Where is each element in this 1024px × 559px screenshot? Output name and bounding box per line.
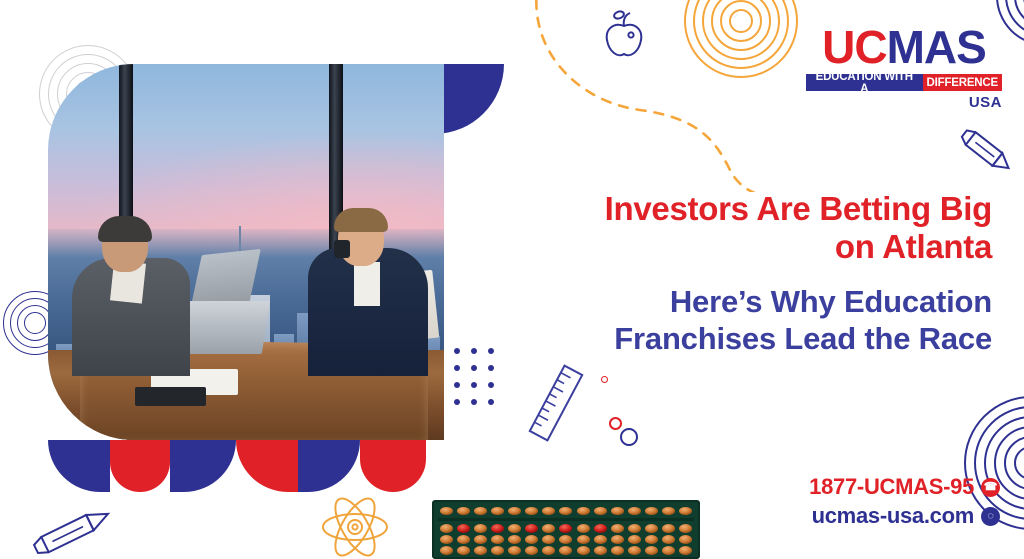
headline-red-line-1: Investors Are Betting Big bbox=[470, 190, 992, 228]
abacus-upper-beads bbox=[440, 507, 692, 515]
dashed-curve-line-icon bbox=[520, 0, 840, 192]
globe-icon: ◌ bbox=[981, 507, 1000, 526]
headline-red: Investors Are Betting Big on Atlanta bbox=[470, 190, 992, 267]
half-circle-strip-pattern bbox=[48, 440, 444, 492]
logo-tagline-right: DIFFERENCE bbox=[923, 74, 1002, 91]
pencil-outline-icon bbox=[26, 498, 122, 559]
headline-blue-line-2: Franchises Lead the Race bbox=[470, 320, 992, 357]
logo-country: USA bbox=[806, 94, 1002, 111]
phone-row[interactable]: 1877-UCMAS-95 ☎ bbox=[560, 474, 1000, 500]
abacus-graphic bbox=[432, 500, 700, 559]
small-circle-icon bbox=[601, 376, 608, 383]
office-skyline-photo bbox=[48, 64, 444, 440]
phone-number[interactable]: 1877-UCMAS-95 bbox=[809, 474, 974, 500]
phone-icon: ☎ bbox=[981, 478, 1000, 497]
headline-blue: Here’s Why Education Franchises Lead the… bbox=[470, 283, 992, 357]
pencil-outline-icon bbox=[952, 118, 1018, 184]
logo-word-mas: MAS bbox=[887, 21, 986, 73]
poster-canvas: UCMAS EDUCATION WITH A DIFFERENCE USA In… bbox=[0, 0, 1024, 559]
atom-outline-icon bbox=[318, 490, 392, 559]
hero-photo bbox=[48, 64, 444, 440]
logo-wordmark: UCMAS bbox=[806, 24, 1002, 70]
abacus-lower-beads-1 bbox=[440, 524, 692, 533]
concentric-arcs-icon bbox=[686, 0, 796, 76]
small-circle-icon bbox=[609, 417, 622, 430]
ucmas-logo[interactable]: UCMAS EDUCATION WITH A DIFFERENCE USA bbox=[806, 24, 1002, 111]
headline-block: Investors Are Betting Big on Atlanta Her… bbox=[470, 190, 992, 357]
headline-blue-line-1: Here’s Why Education bbox=[470, 283, 992, 320]
apple-outline-icon bbox=[596, 8, 652, 64]
abacus-lower-beads-3 bbox=[440, 546, 692, 555]
logo-tagline: EDUCATION WITH A DIFFERENCE bbox=[806, 74, 1002, 91]
ruler-outline-icon bbox=[516, 360, 596, 446]
small-circle-icon bbox=[620, 428, 638, 446]
abacus-lower-beads-2 bbox=[440, 535, 692, 544]
website-url[interactable]: ucmas-usa.com bbox=[812, 503, 974, 529]
headline-red-line-2: on Atlanta bbox=[470, 228, 992, 266]
logo-word-uc: UC bbox=[822, 21, 886, 73]
navy-quarter-circle-accent bbox=[434, 64, 504, 134]
logo-tagline-left: EDUCATION WITH A bbox=[806, 74, 923, 91]
